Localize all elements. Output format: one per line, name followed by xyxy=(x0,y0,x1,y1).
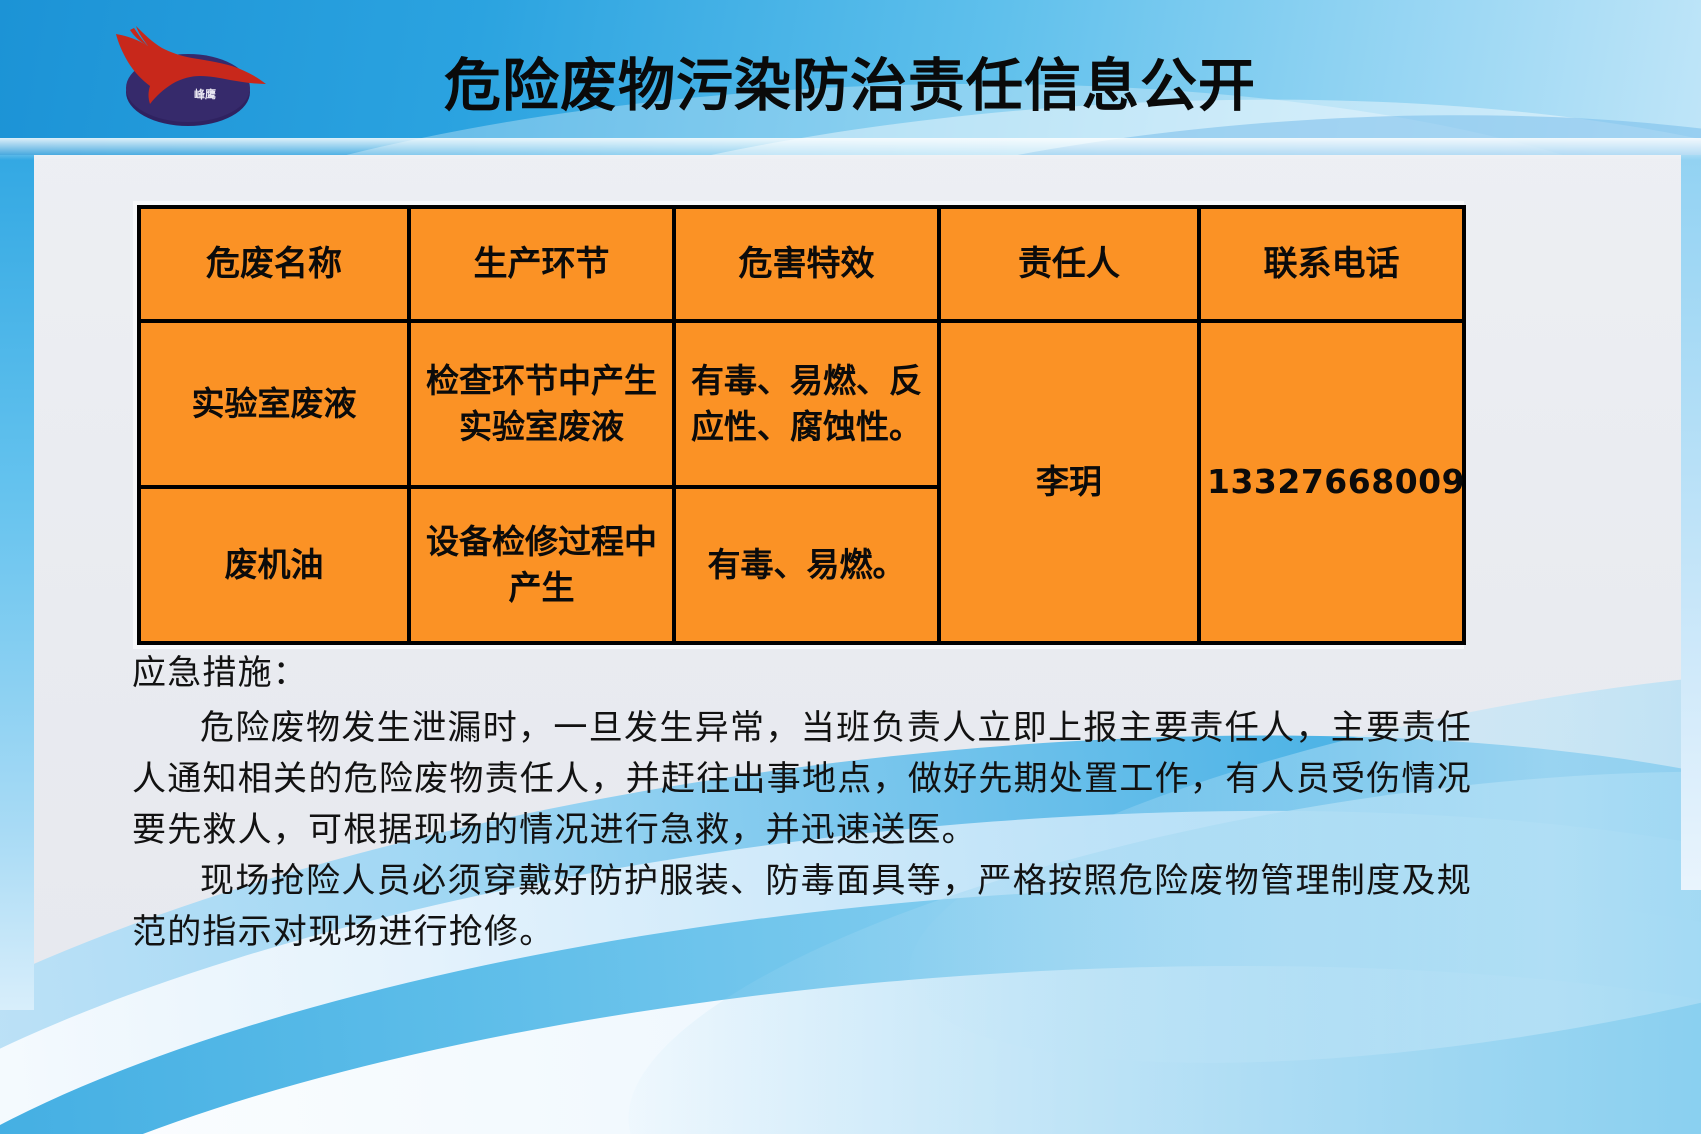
eagle-logo-icon: 峰鹰 xyxy=(108,22,276,132)
banner-edge-highlight xyxy=(0,138,1701,160)
emergency-measures-label: 应急措施： xyxy=(132,648,1472,699)
cell-waste-name-2: 废机油 xyxy=(139,487,409,643)
right-accent-strip xyxy=(1681,130,1701,890)
cell-production-stage-2: 设备检修过程中产生 xyxy=(409,487,674,643)
table-row: 实验室废液 检查环节中产生实验室废液 有毒、易燃、反应性、腐蚀性。 李玥 133… xyxy=(139,321,1464,487)
cell-responsible-person: 李玥 xyxy=(939,321,1199,643)
slide-canvas: 峰鹰 危险废物污染防治责任信息公开 危废名称 生产环节 危害特效 责任人 联系电… xyxy=(0,0,1701,1134)
hazardous-waste-table: 危废名称 生产环节 危害特效 责任人 联系电话 实验室废液 检查环节中产生实验室… xyxy=(137,205,1466,645)
cell-hazard-effect-1: 有毒、易燃、反应性、腐蚀性。 xyxy=(674,321,939,487)
left-accent-strip xyxy=(0,130,34,1010)
svg-text:峰鹰: 峰鹰 xyxy=(194,87,216,101)
header-waste-name: 危废名称 xyxy=(139,207,409,321)
cell-hazard-effect-2: 有毒、易燃。 xyxy=(674,487,939,643)
cell-contact-phone: 13327668009 xyxy=(1199,321,1464,643)
header-hazard-effect: 危害特效 xyxy=(674,207,939,321)
emergency-paragraph-2: 现场抢险人员必须穿戴好防护服装、防毒面具等，严格按照危险废物管理制度及规范的指示… xyxy=(132,856,1472,958)
cell-waste-name-1: 实验室废液 xyxy=(139,321,409,487)
emergency-measures-block: 应急措施： 危险废物发生泄漏时，一旦发生异常，当班负责人立即上报主要责任人，主要… xyxy=(132,648,1472,958)
header-responsible-person: 责任人 xyxy=(939,207,1199,321)
page-title: 危险废物污染防治责任信息公开 xyxy=(330,52,1370,120)
header-production-stage: 生产环节 xyxy=(409,207,674,321)
header-contact-phone: 联系电话 xyxy=(1199,207,1464,321)
company-logo: 峰鹰 xyxy=(108,22,276,132)
emergency-paragraph-1: 危险废物发生泄漏时，一旦发生异常，当班负责人立即上报主要责任人，主要责任人通知相… xyxy=(132,703,1472,856)
hazardous-waste-table-wrapper: 危废名称 生产环节 危害特效 责任人 联系电话 实验室废液 检查环节中产生实验室… xyxy=(133,201,1464,649)
table-header-row: 危废名称 生产环节 危害特效 责任人 联系电话 xyxy=(139,207,1464,321)
cell-production-stage-1: 检查环节中产生实验室废液 xyxy=(409,321,674,487)
